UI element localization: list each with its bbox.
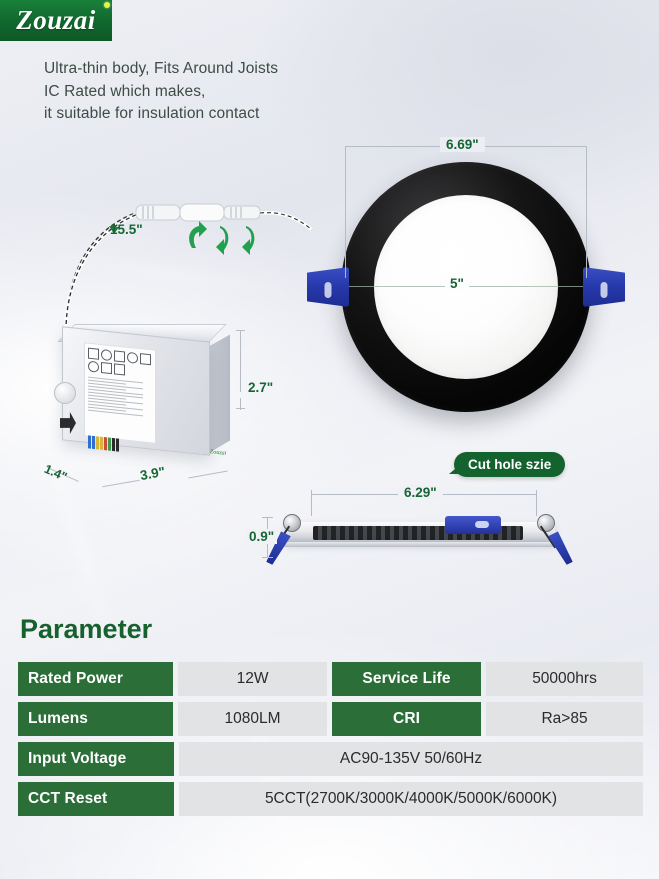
cut-hole-callout: Cut hole szie	[454, 452, 565, 477]
logo-accent-dot	[104, 2, 110, 8]
product-infographic: Zouzai Ultra-thin body, Fits Around Jois…	[0, 0, 659, 879]
parameter-section-title: Parameter	[20, 614, 152, 645]
ic-rated-icon	[140, 353, 151, 365]
profile-clip-foot-right	[548, 531, 573, 566]
fcc-mark-icon	[114, 363, 125, 375]
power-cable	[30, 196, 330, 326]
param-label-cct-reset: CCT Reset	[18, 782, 174, 816]
outer-diameter-label: 6.69"	[440, 137, 485, 152]
param-value-input-voltage: AC90-135V 50/60Hz	[179, 742, 643, 776]
param-label-lumens: Lumens	[18, 702, 173, 736]
profile-trim-rim	[277, 542, 563, 547]
driver-label-fineprint	[85, 373, 155, 420]
table-row: Lumens 1080LM CRI Ra>85	[18, 702, 643, 736]
driver-depth-label: 1.4"	[42, 462, 69, 484]
brand-logo-text: Zouzai	[16, 5, 96, 36]
driver-brand-mark: Zouzai	[210, 449, 226, 457]
headline-text: Ultra-thin body, Fits Around Joists IC R…	[44, 58, 374, 126]
param-value-service-life: 50000hrs	[486, 662, 643, 696]
profile-pivot-right	[537, 514, 555, 532]
cut-hole-tick-left	[311, 490, 312, 516]
param-label-cri: CRI	[332, 702, 481, 736]
led-driver-box: Zouzai	[54, 320, 232, 460]
ul-mark-icon	[101, 349, 112, 361]
table-row: Input Voltage AC90-135V 50/60Hz	[18, 742, 643, 776]
outer-dimension-tick-left	[345, 146, 346, 278]
driver-width-line-a	[102, 480, 140, 488]
cut-hole-callout-label: Cut hole szie	[468, 457, 551, 472]
profile-height-tick-bottom	[262, 557, 273, 558]
headline-line-1: Ultra-thin body, Fits Around Joists	[44, 58, 374, 81]
driver-height-line-lower	[240, 398, 241, 410]
param-value-lumens: 1080LM	[178, 702, 327, 736]
brand-logo: Zouzai	[0, 0, 112, 41]
profile-spring-clip	[445, 516, 501, 534]
param-value-cct-reset: 5CCT(2700K/3000K/4000K/5000K/6000K)	[179, 782, 643, 816]
driver-barcode	[88, 435, 119, 451]
damp-location-icon	[114, 350, 125, 362]
driver-width-label: 3.9"	[139, 464, 166, 483]
param-label-service-life: Service Life	[332, 662, 481, 696]
wheelie-bin-icon	[88, 348, 99, 360]
driver-cable-grommet	[54, 382, 76, 404]
profile-height-label: 0.9"	[246, 529, 277, 544]
param-label-rated-power: Rated Power	[18, 662, 173, 696]
driver-spec-label	[84, 342, 156, 444]
downlight-front-view: 5"	[341, 162, 591, 412]
class2-icon	[101, 362, 112, 374]
headline-line-3: it suitable for insulation contact	[44, 103, 374, 126]
driver-width-line-b	[188, 471, 228, 479]
energy-star-icon	[88, 361, 99, 373]
cable-length-label: 15.5"	[110, 222, 143, 237]
parameter-table: Rated Power 12W Service Life 50000hrs Lu…	[18, 662, 643, 822]
driver-height-line	[240, 330, 241, 392]
param-value-rated-power: 12W	[178, 662, 327, 696]
table-row: Rated Power 12W Service Life 50000hrs	[18, 662, 643, 696]
clip-slot	[601, 282, 608, 298]
profile-height-tick-top	[262, 517, 273, 518]
outer-dimension-tick-right	[586, 146, 587, 278]
inner-diameter-label: 5"	[445, 276, 469, 291]
spring-clip-right	[583, 267, 625, 307]
cut-hole-tick-right	[536, 490, 537, 516]
param-value-cri: Ra>85	[486, 702, 643, 736]
driver-height-tick-top	[236, 330, 245, 331]
twist-to-connect-arrows	[180, 218, 272, 258]
driver-height-label: 2.7"	[248, 380, 273, 395]
clip-slot	[475, 521, 489, 528]
table-row: CCT Reset 5CCT(2700K/3000K/4000K/5000K/6…	[18, 782, 643, 816]
param-label-input-voltage: Input Voltage	[18, 742, 174, 776]
headline-line-2: IC Rated which makes,	[44, 81, 374, 104]
cut-hole-width-label: 6.29"	[398, 485, 443, 500]
ce-mark-icon	[127, 352, 138, 364]
